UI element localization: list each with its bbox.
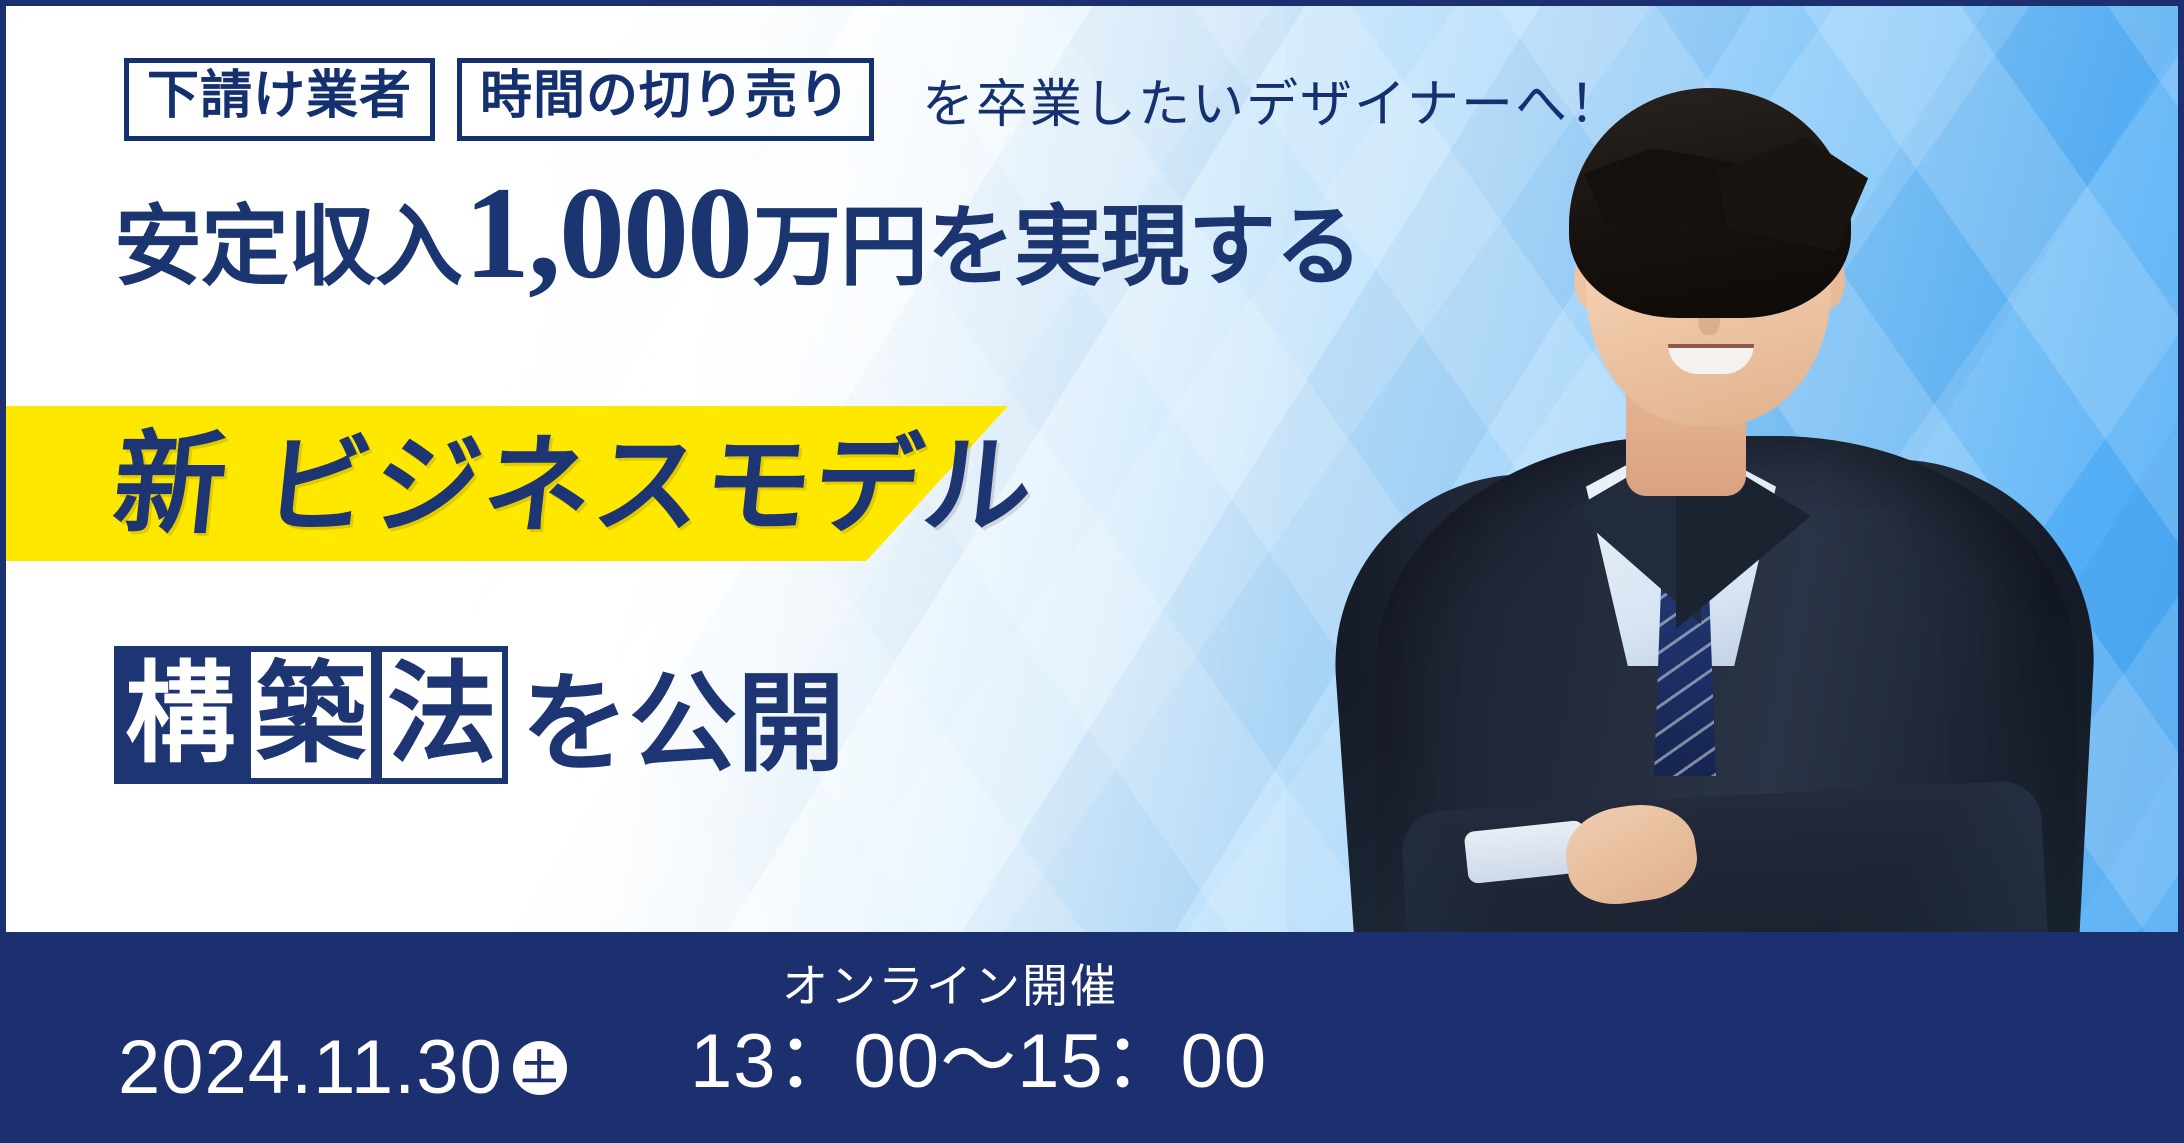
headline-income-suffix: 万円を実現する — [753, 176, 1362, 303]
headline-income-prefix: 安定収入 — [114, 176, 462, 303]
event-date: 2024.11.30 土 — [118, 1024, 567, 1111]
event-footer-bar: 2024.11.30 土 オンライン開催 13：00〜15：00 — [0, 932, 2184, 1143]
kanji-box-hou: 法 — [376, 646, 508, 784]
tag-selling-time: 時間の切り売り — [457, 58, 874, 141]
tagline-suffix: を卒業したいデザイナーへ！ — [922, 62, 1623, 137]
headline-business-model-text: ビジネスモデル — [258, 425, 1041, 546]
event-weekday-badge: 土 — [513, 1041, 567, 1095]
webinar-banner: 下請け業者 時間の切り売り を卒業したいデザイナーへ！ 安定収入 1,000 万… — [0, 0, 2184, 1143]
headline-income-amount: 1,000 — [464, 174, 751, 293]
headline-new-kanji: 新 — [108, 422, 235, 547]
event-time-range: 13：00〜15：00 — [690, 1016, 1210, 1107]
top-tagline: 下請け業者 時間の切り売り を卒業したいデザイナーへ！ — [124, 58, 1623, 141]
headline-business-model: 新ビジネスモデル — [107, 418, 1041, 552]
kanji-box-chiku: 築 — [245, 646, 377, 784]
tag-subcontractor: 下請け業者 — [124, 58, 435, 141]
headline-method-suffix: を公開 — [521, 670, 845, 784]
headline-method-reveal: 構 築 法 を公開 — [114, 646, 845, 784]
event-time-block: オンライン開催 13：00〜15：00 — [690, 958, 1210, 1107]
event-mode-label: オンライン開催 — [690, 958, 1210, 1016]
event-date-text: 2024.11.30 — [118, 1024, 503, 1111]
headline-income: 安定収入 1,000 万円を実現する — [114, 174, 1362, 303]
kanji-box-kou: 構 — [114, 646, 246, 784]
